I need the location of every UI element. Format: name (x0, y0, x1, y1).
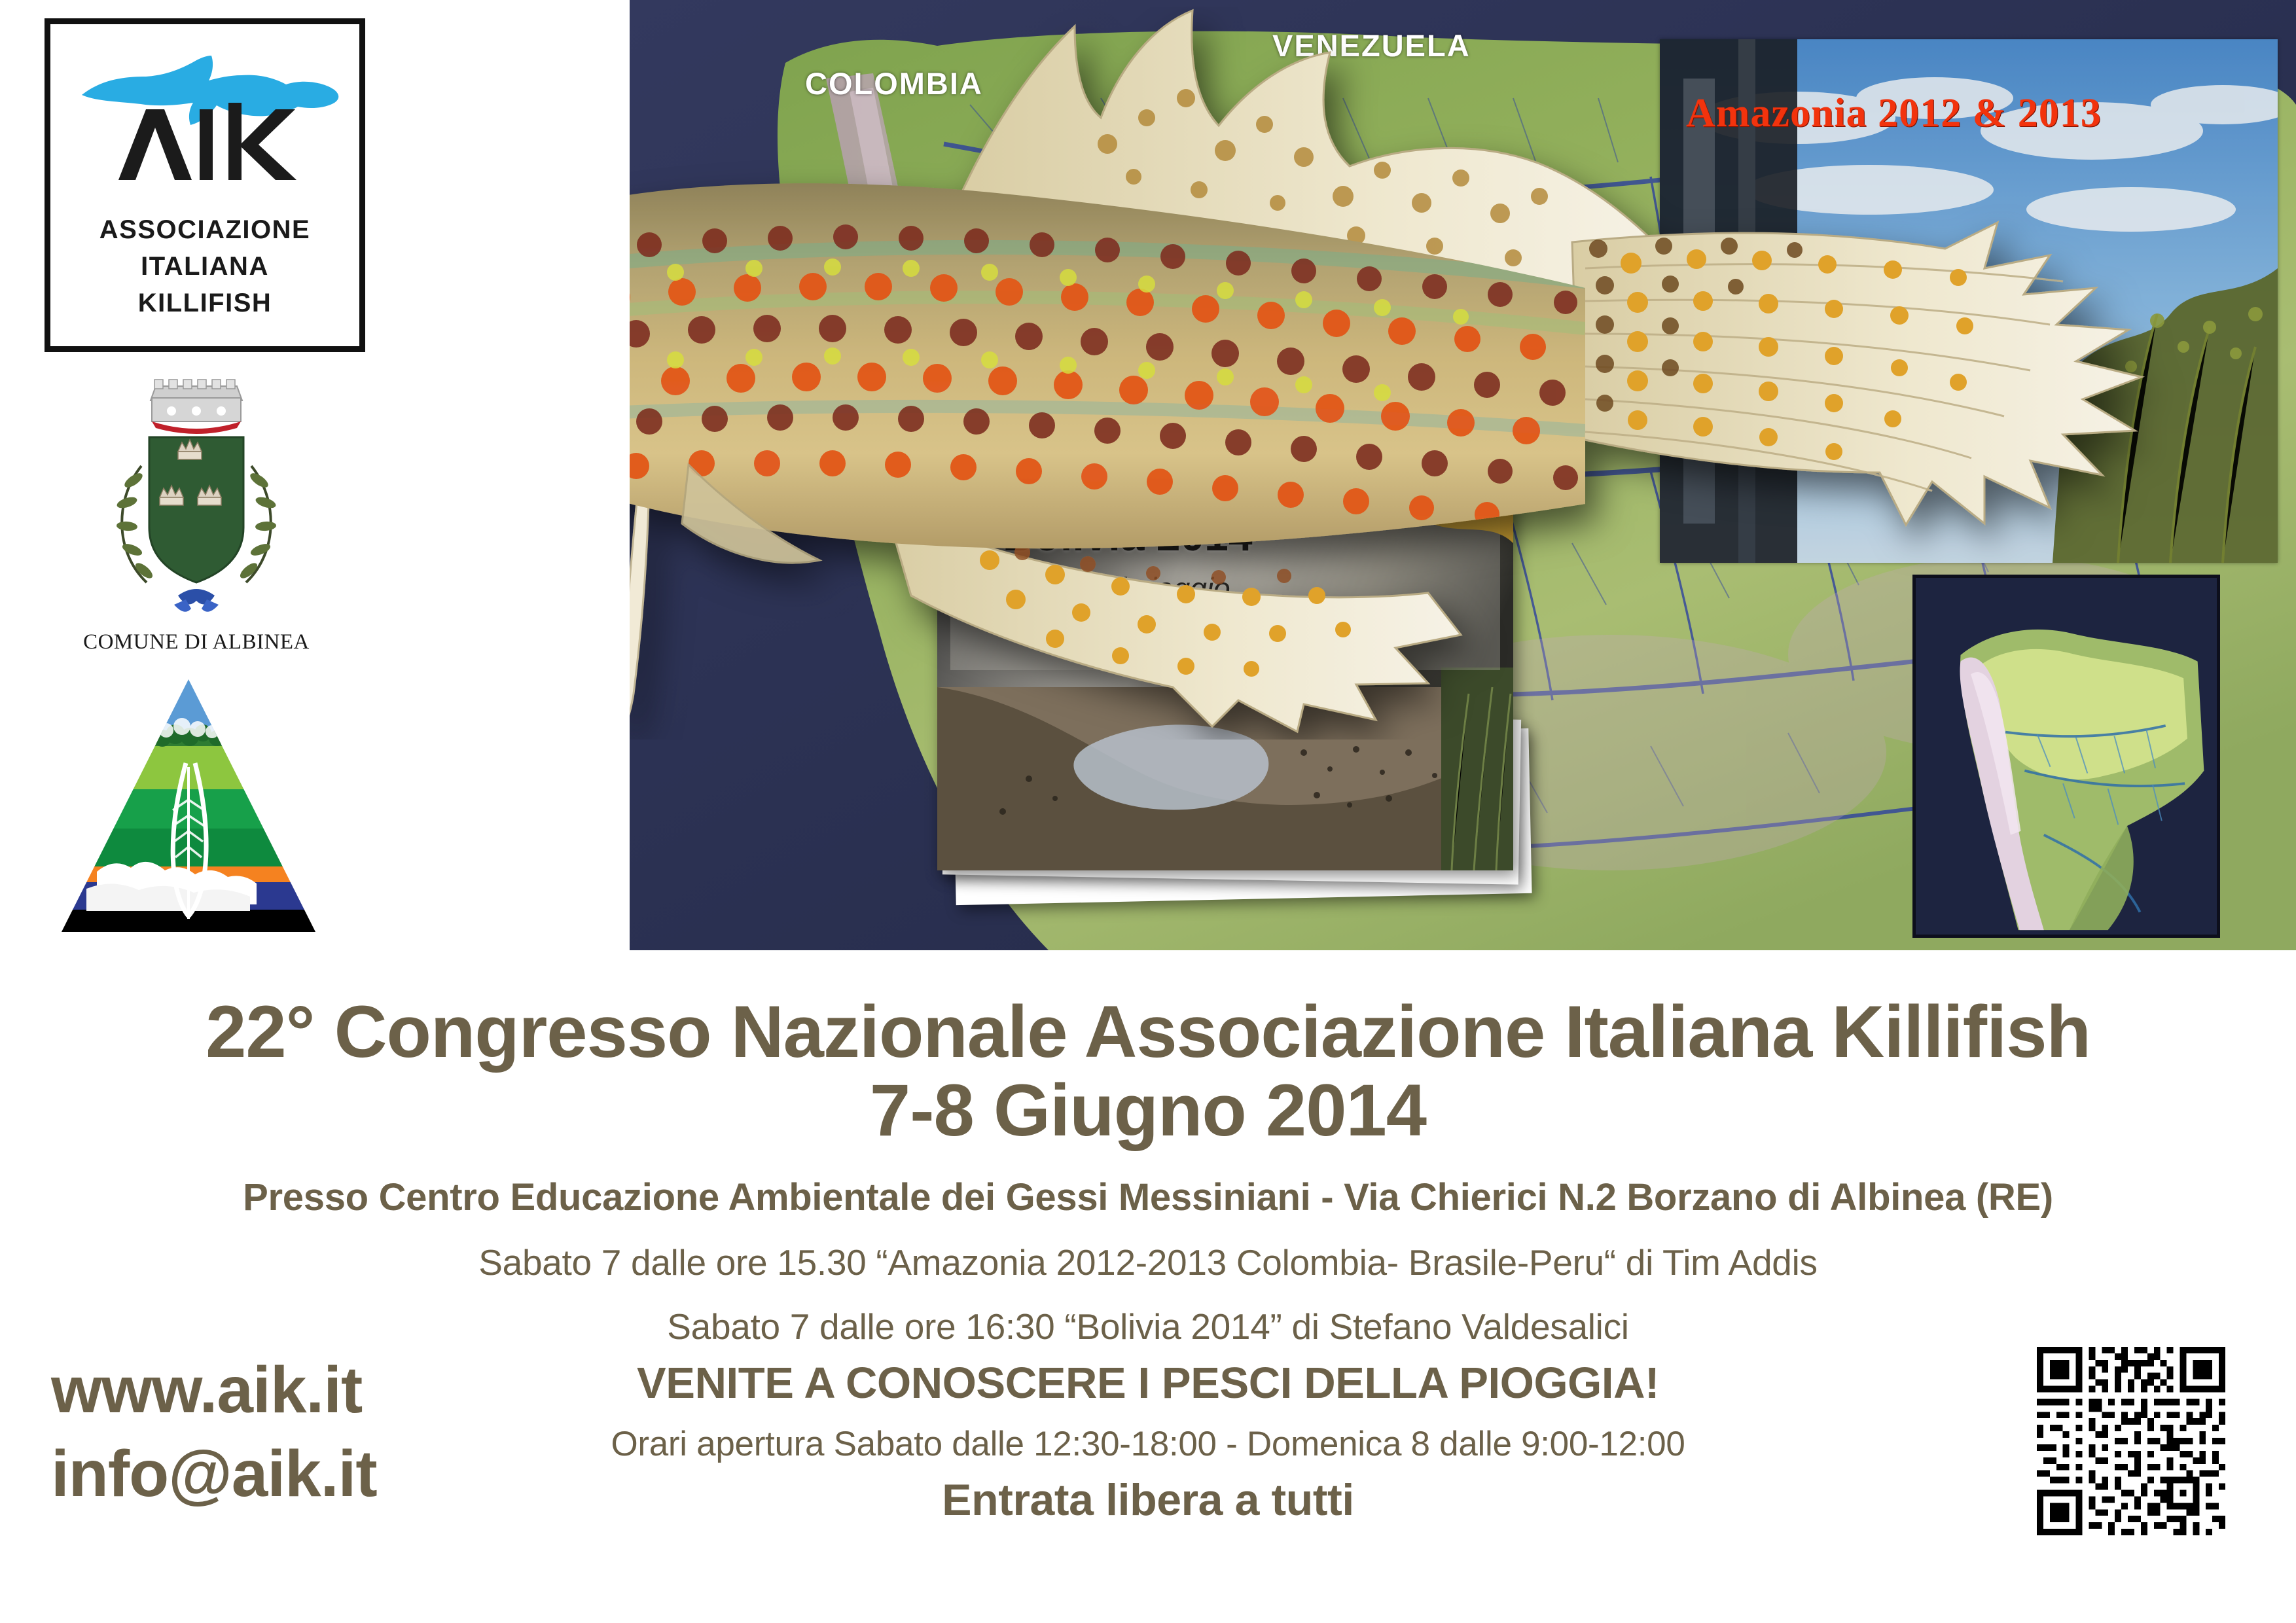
logo-column: ASSOCIAZIONE ITALIANA KILLIFISH (0, 0, 406, 969)
bolivia-photo-stack: Bolivia 2014 diario di viaggio (937, 471, 1559, 929)
website-link[interactable]: www.aik.it (51, 1348, 548, 1432)
contact-block: www.aik.it info@aik.it (51, 1348, 548, 1516)
bolivia-title: Bolivia 2014 (1003, 510, 1253, 560)
page-title-line1: 22° Congresso Nazionale Associazione Ita… (0, 995, 2296, 1069)
amazonia-photo-panel: Amazonia 2012 & 2013 (1660, 39, 2278, 563)
email-link[interactable]: info@aik.it (51, 1432, 548, 1516)
amazonia-title: Amazonia 2012 & 2013 (1686, 90, 2278, 137)
aik-line-italiana: ITALIANA (50, 252, 359, 281)
page-title-line2: 7-8 Giugno 2014 (0, 1069, 2296, 1151)
talk-1-text: Sabato 7 dalle ore 15.30 “Amazonia 2012-… (0, 1241, 2296, 1283)
map-label-colombia: COLOMBIA (805, 65, 983, 101)
gessi-messiniani-pyramid-icon (58, 675, 319, 937)
qr-code[interactable] (2037, 1347, 2225, 1535)
talk-2-text: Sabato 7 dalle ore 16:30 “Bolivia 2014” … (0, 1306, 2296, 1347)
map-label-venezuela: VENEZUELA (1272, 27, 1471, 63)
aik-line-killifish: KILLIFISH (50, 289, 359, 318)
municipal-coat-of-arms-icon (79, 374, 314, 649)
aik-line-associazione: ASSOCIAZIONE (50, 215, 359, 245)
comune-caption: COMUNE DI ALBINEA (26, 630, 367, 654)
south-america-relief-inset (1912, 575, 2220, 938)
image-collage: COLOMBIA VENEZUELA SU GUYANA (630, 0, 2296, 950)
aik-wordmark (50, 103, 359, 214)
aik-logo: ASSOCIAZIONE ITALIANA KILLIFISH (45, 18, 365, 352)
venue-text: Presso Centro Educazione Ambientale dei … (0, 1175, 2296, 1219)
bolivia-subtitle: diario di viaggio (1021, 571, 1230, 606)
